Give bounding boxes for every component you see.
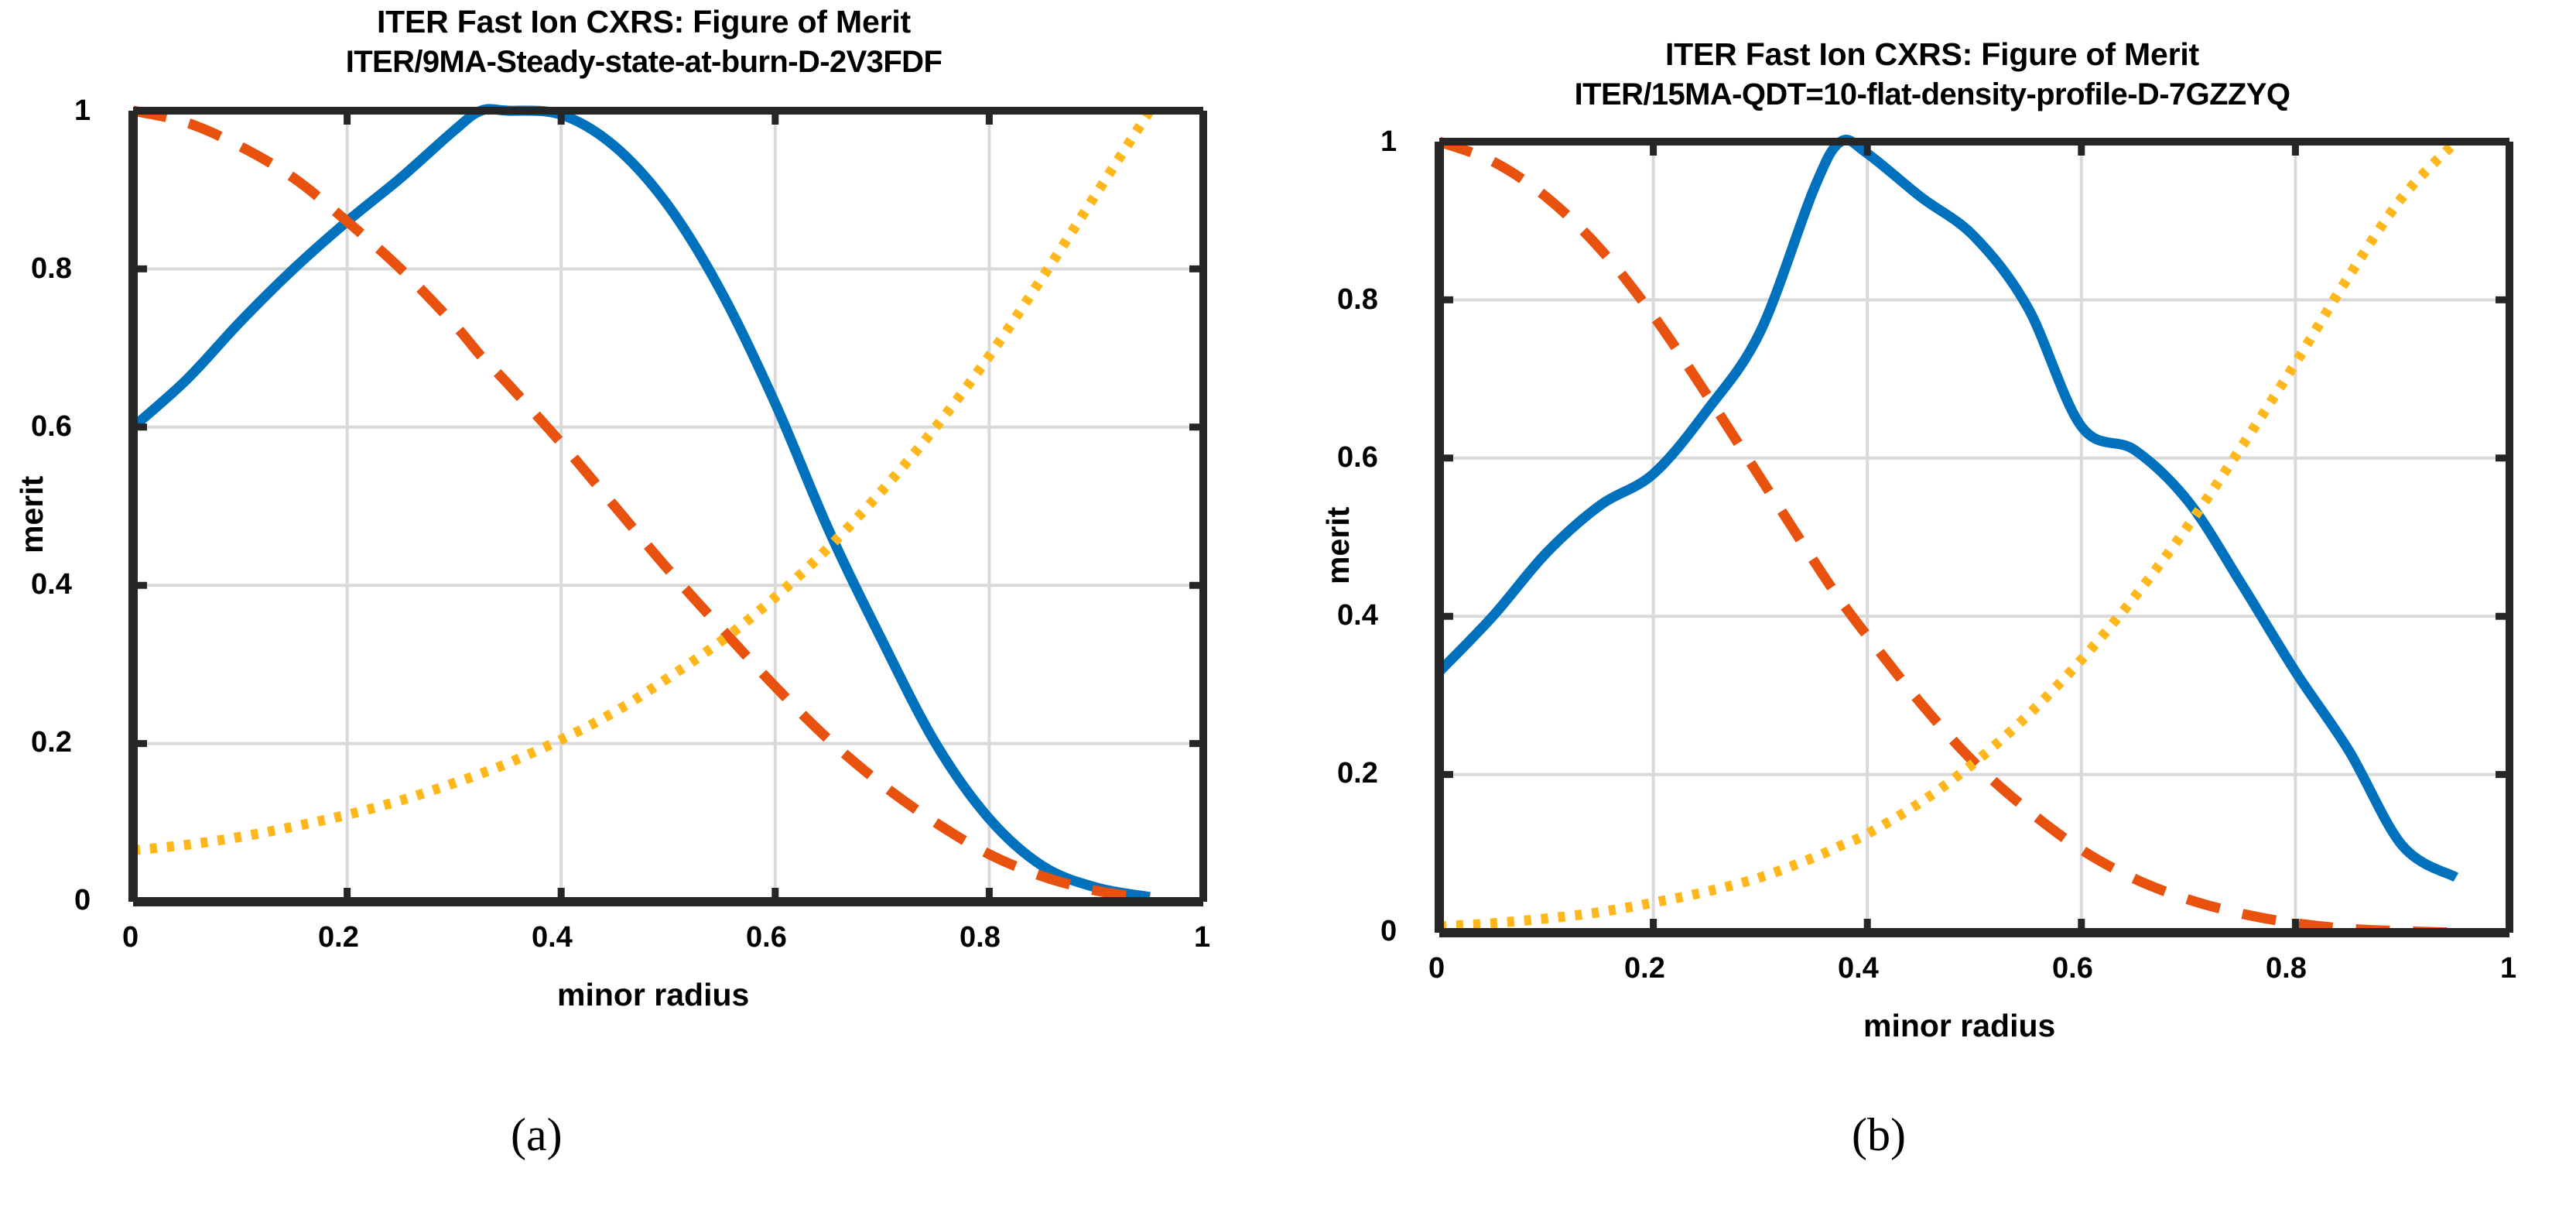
figure-root: ITER Fast Ion CXRS: Figure of Merit ITER… — [0, 0, 2576, 1216]
panel-a-ytick-0.4: 0.4 — [31, 568, 72, 601]
panel-b-yaxis-label: merit — [1320, 507, 1356, 584]
panel-a-xtick-0.6: 0.6 — [746, 921, 787, 954]
panel-a-plot-background — [133, 111, 1203, 902]
panel-a-ytick-0: 0 — [74, 884, 91, 917]
panel-a-ytick-0.2: 0.2 — [31, 726, 72, 759]
panel-a-ytick-0.6: 0.6 — [31, 410, 72, 444]
panel-b-xtick-0.4: 0.4 — [1838, 952, 1879, 985]
panel-b-ytick-0.4: 0.4 — [1337, 599, 1378, 632]
panel-a-caption: (a) — [511, 1108, 563, 1162]
panel-a-yaxis-label: merit — [14, 476, 50, 553]
panel-a-xaxis-label: minor radius — [557, 977, 749, 1013]
panel-a-axes-svg — [0, 0, 1288, 1037]
panel-b-caption: (b) — [1852, 1108, 1906, 1162]
panel-a-xtick-0.2: 0.2 — [318, 921, 359, 954]
panel-a-plot: 1 0.8 0.6 0.4 0.2 0 0 0.2 0.4 0.6 0.8 1 … — [0, 0, 1288, 1037]
panel-b-ytick-1: 1 — [1380, 125, 1397, 159]
panel-b-xaxis-label: minor radius — [1863, 1008, 2055, 1044]
panel-b-xtick-0: 0 — [1428, 952, 1445, 985]
panel-b-axes-svg — [1288, 0, 2576, 1068]
panel-b-plot-background — [1439, 142, 2509, 933]
panel-a-xtick-0.8: 0.8 — [960, 921, 1001, 954]
panel-a: ITER Fast Ion CXRS: Figure of Merit ITER… — [0, 0, 1288, 1216]
panel-b-xtick-0.2: 0.2 — [1624, 952, 1665, 985]
panel-a-xtick-1: 1 — [1194, 921, 1210, 954]
panel-b-ytick-0.6: 0.6 — [1337, 441, 1378, 474]
panel-b-ytick-0.8: 0.8 — [1337, 283, 1378, 317]
panel-b-xtick-0.8: 0.8 — [2266, 952, 2307, 985]
panel-a-xtick-0: 0 — [122, 921, 139, 954]
panel-a-ytick-1: 1 — [74, 94, 91, 128]
panel-b-ytick-0: 0 — [1380, 915, 1397, 948]
panel-b-plot: 1 0.8 0.6 0.4 0.2 0 0 0.2 0.4 0.6 0.8 1 … — [1288, 0, 2576, 1068]
panel-b-xtick-1: 1 — [2500, 952, 2516, 985]
panel-a-xtick-0.4: 0.4 — [532, 921, 573, 954]
panel-b-xtick-0.6: 0.6 — [2052, 952, 2093, 985]
panel-b-ytick-0.2: 0.2 — [1337, 757, 1378, 790]
panel-b: ITER Fast Ion CXRS: Figure of Merit ITER… — [1288, 0, 2576, 1216]
panel-a-ytick-0.8: 0.8 — [31, 252, 72, 286]
